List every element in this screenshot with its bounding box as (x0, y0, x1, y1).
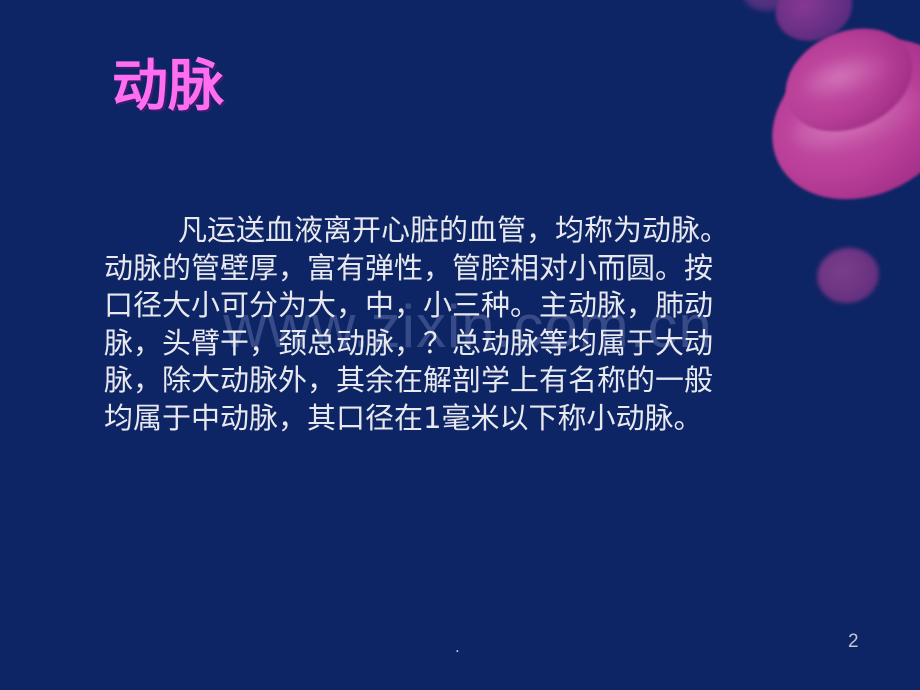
footer-dot: . (455, 638, 460, 655)
blood-cell-top-faint-icon (736, 0, 806, 19)
blood-cell-top-corner-icon (767, 0, 860, 51)
body-line: 脉，头臂干，颈总动脉，？总动脉等均属于大动 (104, 325, 784, 363)
blood-cell-mid-right-icon (812, 242, 884, 309)
slide-body-text: 凡运送血液离开心脏的血管，均称为动脉。 动脉的管壁厚，富有弹性，管腔相对小而圆。… (104, 212, 784, 437)
presentation-slide: www.zixin.com.cn 动脉 凡运送血液离开心脏的血管，均称为动脉。 … (0, 0, 920, 690)
blood-cell-upper-right-icon (769, 9, 920, 150)
body-line: 动脉的管壁厚，富有弹性，管腔相对小而圆。按 (104, 250, 784, 288)
body-line: 口径大小可分为大，中，小三种。主动脉，肺动 (104, 287, 784, 325)
body-line: 均属于中动脉，其口径在1毫米以下称小动脉。 (104, 400, 784, 438)
body-line: 脉，除大动脉外，其余在解剖学上有名称的一般 (104, 362, 784, 400)
blood-cell-large-right-icon (745, 8, 920, 231)
page-number: 2 (848, 632, 859, 651)
slide-title: 动脉 (112, 59, 224, 115)
body-line: 凡运送血液离开心脏的血管，均称为动脉。 (104, 212, 784, 250)
